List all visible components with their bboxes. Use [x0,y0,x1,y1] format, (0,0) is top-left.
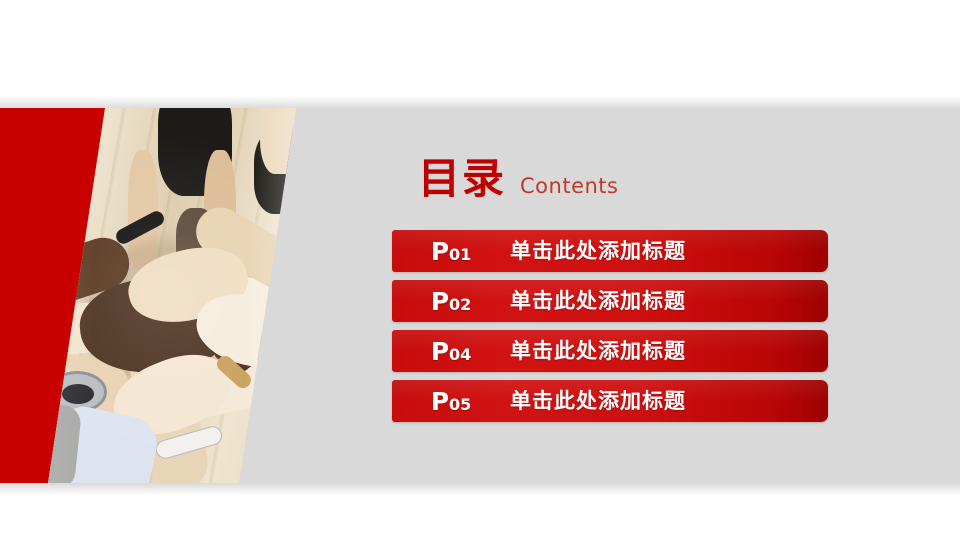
agenda-item-1-code: P01 [392,239,510,264]
agenda-item-2[interactable]: P02 单击此处添加标题 [392,280,828,322]
agenda-item-2-letter: P [431,287,449,316]
agenda-item-3-number: 04 [449,345,471,364]
page-title: 目录 [418,158,506,200]
agenda-item-2-code: P02 [392,289,510,314]
agenda-item-2-title: 单击此处添加标题 [510,291,686,312]
band-fade-bottom [0,483,960,495]
agenda-item-3-title: 单击此处添加标题 [510,341,686,362]
agenda-item-3[interactable]: P04 单击此处添加标题 [392,330,828,372]
agenda-list: P01 单击此处添加标题 P02 单击此处添加标题 P04 单击此处添加标题 P… [392,230,828,430]
page-title-group: 目录 Contents [418,158,618,200]
slide-canvas: 目录 Contents P01 单击此处添加标题 P02 单击此处添加标题 P0… [0,0,960,540]
agenda-item-3-code: P04 [392,339,510,364]
agenda-item-4-number: 05 [449,395,471,414]
agenda-item-1[interactable]: P01 单击此处添加标题 [392,230,828,272]
agenda-item-4-letter: P [431,387,449,416]
agenda-item-2-number: 02 [449,295,471,314]
agenda-item-4-code: P05 [392,389,510,414]
agenda-item-1-number: 01 [449,245,471,264]
agenda-item-1-title: 单击此处添加标题 [510,241,686,262]
agenda-item-4-title: 单击此处添加标题 [510,391,686,412]
page-subtitle: Contents [520,176,618,197]
agenda-item-3-letter: P [431,337,449,366]
agenda-item-1-letter: P [431,237,449,266]
agenda-item-4[interactable]: P05 单击此处添加标题 [392,380,828,422]
